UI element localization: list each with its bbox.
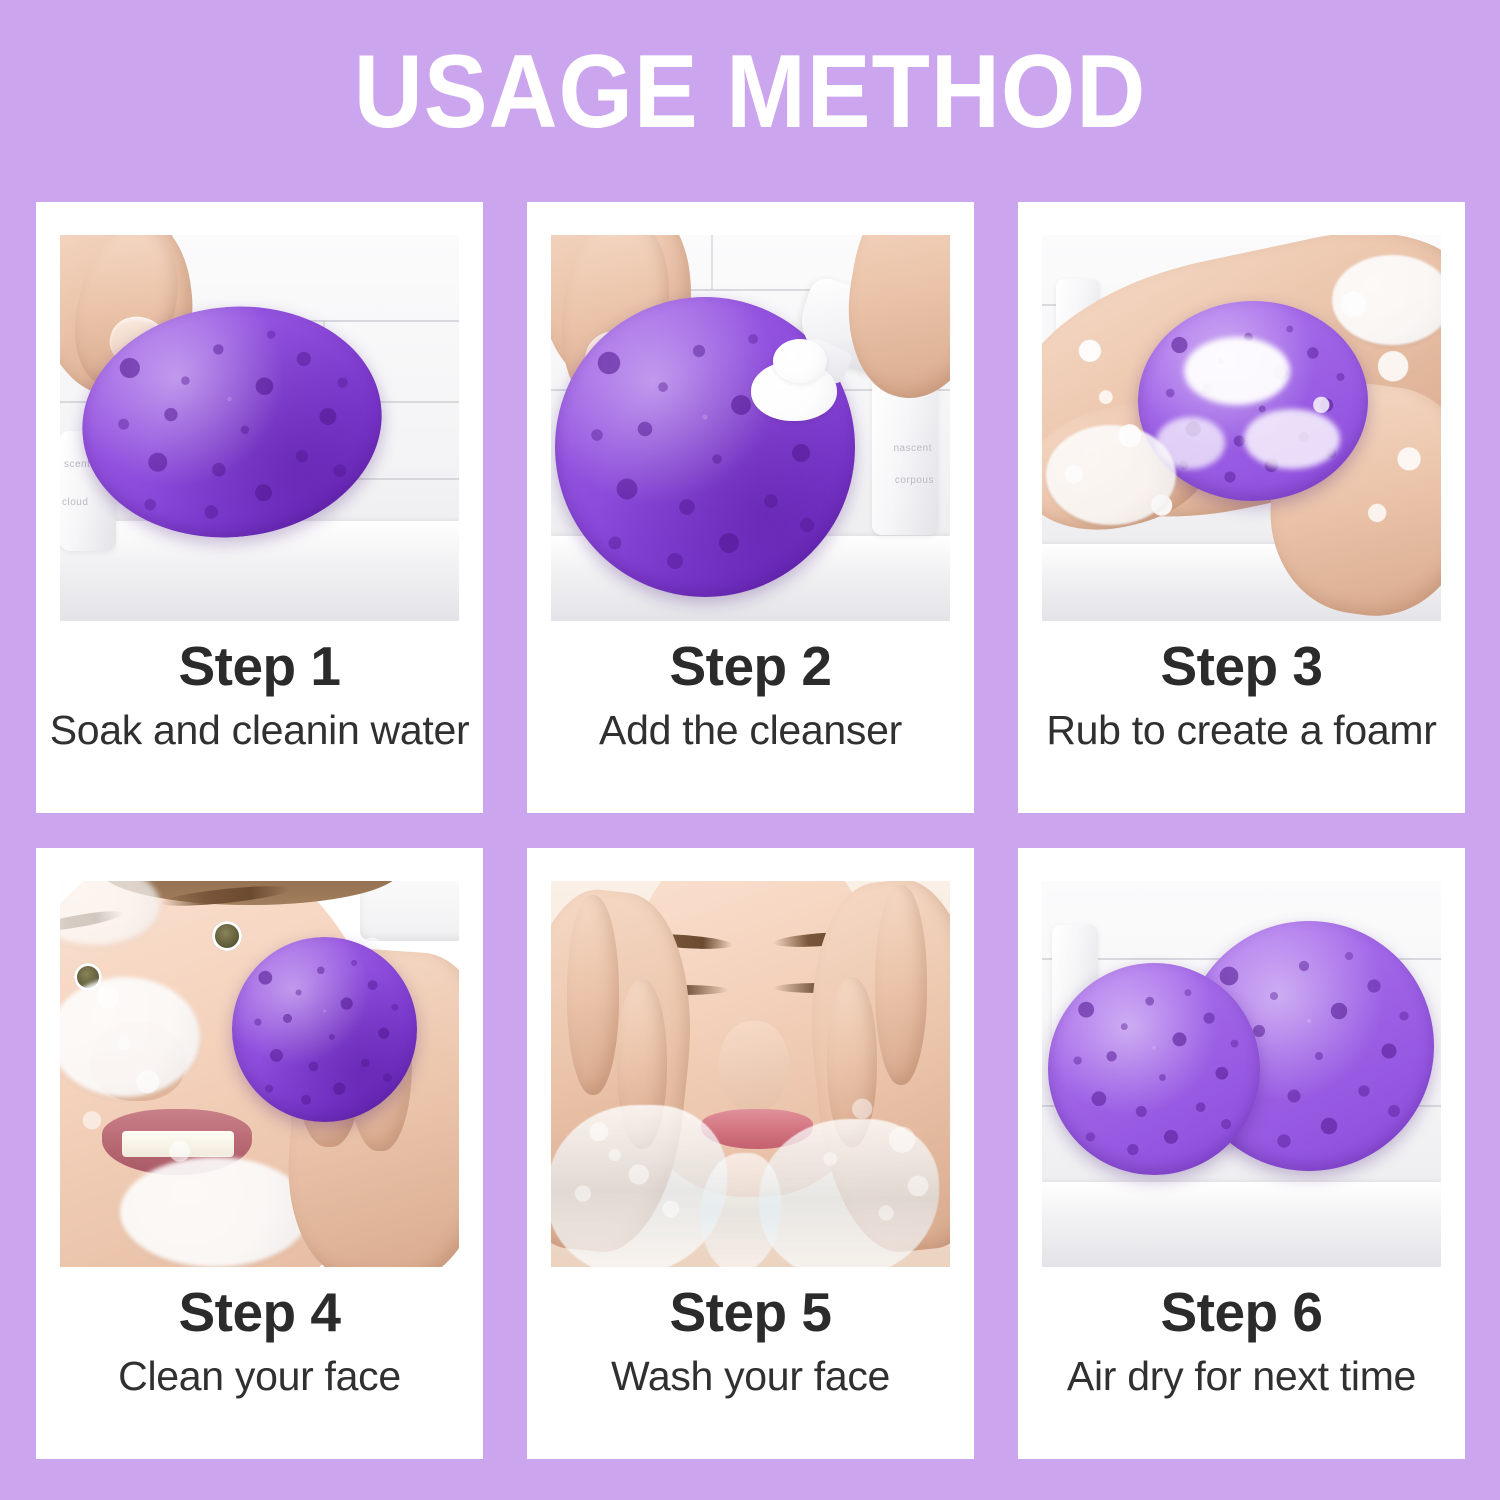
step-caption-5: Step 5 Wash your face: [527, 1280, 974, 1402]
purple-sponge: [232, 937, 417, 1122]
purple-sponge-front: [1048, 963, 1260, 1175]
water-drip-center: [701, 1153, 781, 1267]
step-caption-6: Step 6 Air dry for next time: [1018, 1280, 1465, 1402]
steps-grid: scent cloud Step 1 Soak and cleanin wate…: [36, 202, 1465, 1459]
scene-air-dry-sponges: [1042, 881, 1441, 1267]
hair-towel: [360, 881, 459, 941]
step-photo-2: nascent corpous: [551, 235, 950, 621]
page-title: USAGE METHOD: [60, 36, 1440, 148]
step-description: Soak and cleanin water: [36, 704, 483, 756]
step-photo-6: [1042, 881, 1441, 1267]
step-caption-1: Step 1 Soak and cleanin water: [36, 634, 483, 756]
step-caption-3: Step 3 Rub to create a foamr: [1018, 634, 1465, 756]
finger-right-1: [875, 885, 927, 1085]
step-caption-4: Step 4 Clean your face: [36, 1280, 483, 1402]
water-splash-right: [759, 1119, 939, 1267]
step-photo-3: [1042, 235, 1441, 621]
step-photo-1: scent cloud: [60, 235, 459, 621]
step-heading: Step 4: [36, 1280, 483, 1344]
lather-patch-left: [1046, 425, 1176, 525]
cleanser-blob-top: [773, 339, 827, 383]
step-heading: Step 1: [36, 634, 483, 698]
step-heading: Step 3: [1018, 634, 1465, 698]
face-foam-chin: [120, 1157, 310, 1267]
step-card-5[interactable]: Step 5 Wash your face: [527, 848, 974, 1459]
step-card-1[interactable]: scent cloud Step 1 Soak and cleanin wate…: [36, 202, 483, 813]
step-description: Wash your face: [527, 1350, 974, 1402]
bathroom-counter: [1042, 1182, 1441, 1267]
step-description: Clean your face: [36, 1350, 483, 1402]
step-description: Air dry for next time: [1018, 1350, 1465, 1402]
purple-sponge: [71, 292, 393, 552]
step-description: Add the cleanser: [527, 704, 974, 756]
scene-adding-cleanser: nascent corpous: [551, 235, 950, 621]
step-card-6[interactable]: Step 6 Air dry for next time: [1018, 848, 1465, 1459]
step-heading: Step 6: [1018, 1280, 1465, 1344]
step-photo-4: [60, 881, 459, 1267]
scene-hand-holding-sponge: scent cloud: [60, 235, 459, 621]
step-photo-5: [551, 881, 950, 1267]
product-bottle: [872, 375, 938, 535]
nose: [719, 1021, 789, 1113]
finger-left-1: [567, 895, 619, 1095]
step-heading: Step 5: [527, 1280, 974, 1344]
scene-rub-to-create-foam: [1042, 235, 1441, 621]
step-heading: Step 2: [527, 634, 974, 698]
lather-patch-right: [1332, 255, 1441, 345]
scene-wash-your-face: [551, 881, 950, 1267]
step-card-2[interactable]: nascent corpous Step 2: [527, 202, 974, 813]
step-card-4[interactable]: Step 4 Clean your face: [36, 848, 483, 1459]
scene-clean-your-face: [60, 881, 459, 1267]
water-splash-left: [551, 1105, 727, 1267]
step-caption-2: Step 2 Add the cleanser: [527, 634, 974, 756]
step-card-3[interactable]: Step 3 Rub to create a foamr: [1018, 202, 1465, 813]
step-description: Rub to create a foamr: [1018, 704, 1465, 756]
teeth: [122, 1131, 234, 1157]
